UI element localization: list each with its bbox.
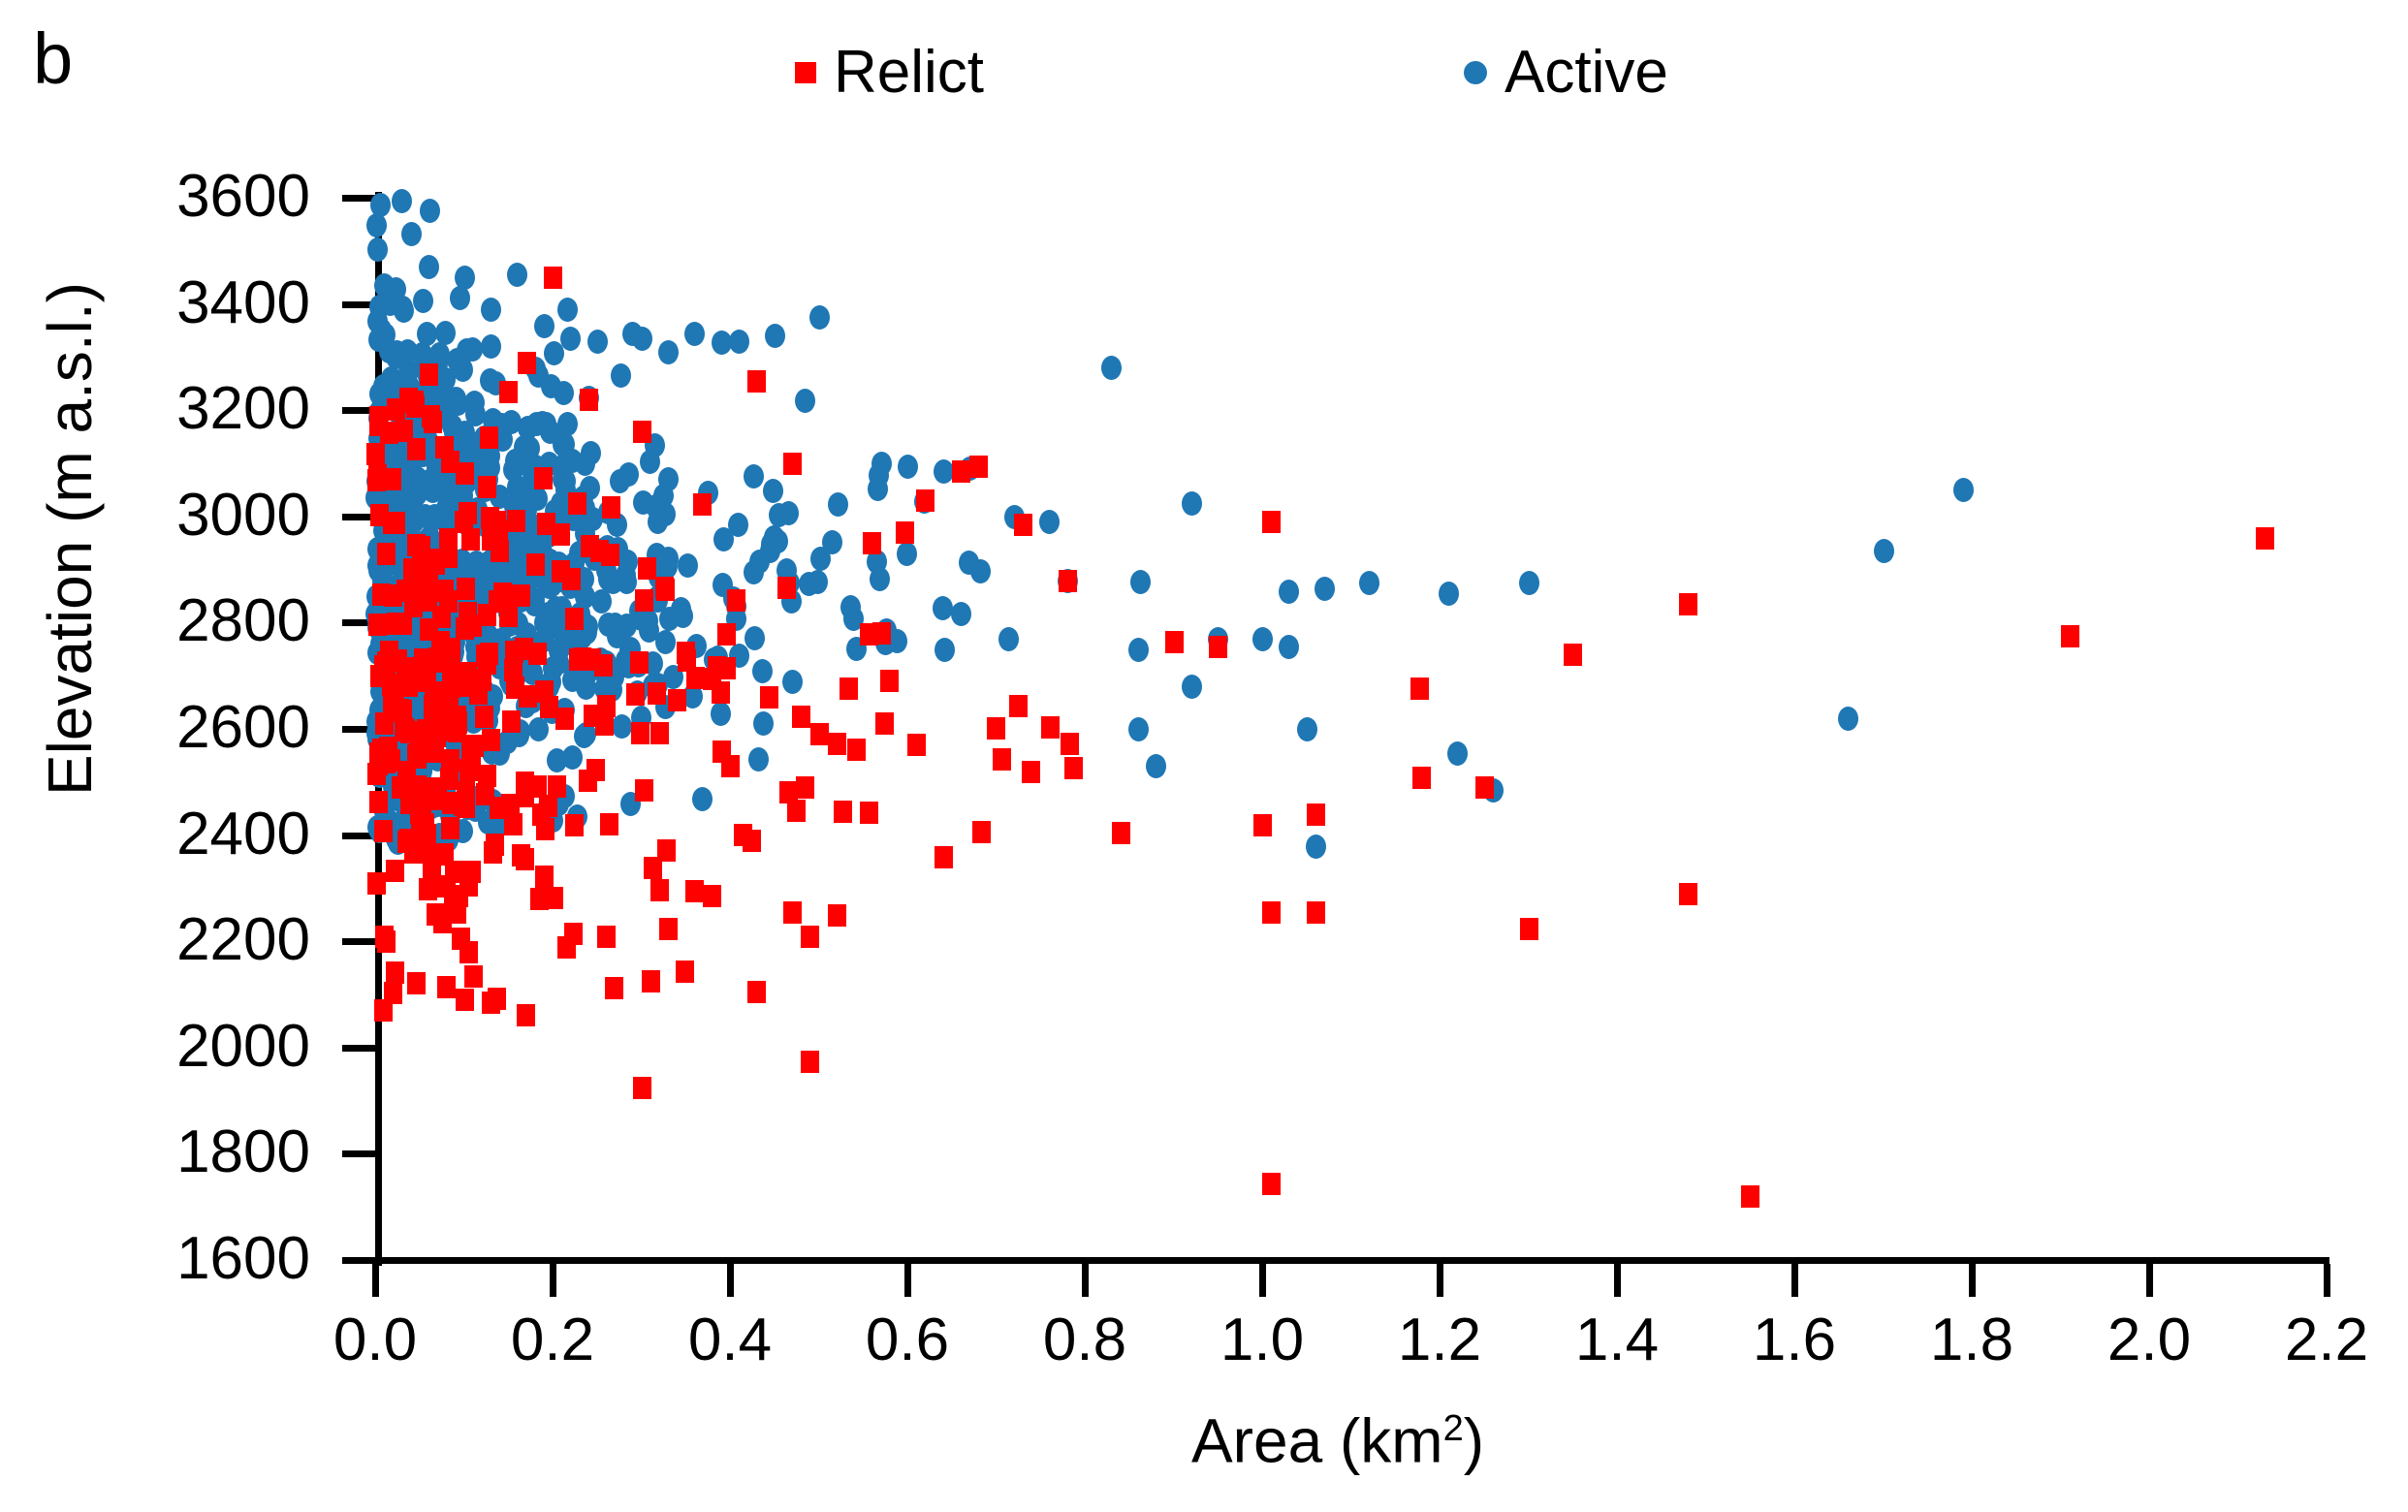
- data-point-active: [1128, 638, 1149, 662]
- data-point-active: [401, 222, 422, 246]
- data-point-active: [1146, 754, 1166, 778]
- data-point-active: [575, 452, 595, 476]
- data-point-relict: [1112, 822, 1130, 844]
- data-point-active: [611, 363, 631, 388]
- data-point-relict: [847, 739, 866, 761]
- data-point-relict: [703, 885, 721, 907]
- x-axis-title: Area (km2): [1018, 1398, 1658, 1471]
- data-point-relict: [557, 936, 576, 959]
- data-point-relict: [512, 584, 530, 607]
- data-point-relict: [916, 489, 935, 512]
- data-point-active: [1838, 707, 1858, 731]
- data-point-relict: [384, 584, 402, 607]
- data-point-active: [640, 450, 660, 474]
- data-point-active: [527, 487, 548, 511]
- data-point-relict: [368, 464, 387, 487]
- data-point-relict: [638, 557, 656, 580]
- data-point-relict: [828, 904, 846, 927]
- y-tick-label: 1800: [58, 1122, 310, 1182]
- data-point-relict: [644, 857, 662, 879]
- legend-entry-active: Active: [1464, 43, 1668, 103]
- x-tick: [1614, 1264, 1621, 1297]
- data-point-relict: [734, 824, 752, 846]
- data-point-relict: [534, 467, 553, 489]
- data-point-relict: [872, 622, 891, 645]
- data-point-active: [557, 298, 578, 322]
- data-point-active: [871, 452, 892, 476]
- data-point-active: [897, 542, 917, 566]
- data-point-relict: [594, 654, 613, 677]
- data-point-relict: [478, 652, 496, 675]
- data-point-relict: [374, 820, 393, 842]
- data-point-relict: [796, 776, 814, 799]
- data-point-relict: [535, 680, 554, 703]
- x-tick: [2324, 1264, 2330, 1297]
- data-point-active: [1953, 478, 1974, 502]
- data-point-relict: [459, 662, 477, 684]
- data-point-active: [1439, 582, 1459, 606]
- data-point-relict: [676, 961, 694, 983]
- data-point-relict: [648, 682, 666, 705]
- data-point-relict: [1262, 1173, 1281, 1195]
- data-point-relict: [633, 1077, 651, 1099]
- data-point-relict: [880, 670, 899, 692]
- data-point-relict: [407, 438, 426, 460]
- data-point-relict: [2256, 527, 2274, 550]
- data-point-relict: [1564, 644, 1582, 666]
- data-point-active: [1297, 717, 1317, 741]
- data-point-relict: [993, 748, 1011, 771]
- data-point-relict: [476, 783, 494, 805]
- x-tick-label: 2.2: [2220, 1310, 2408, 1370]
- data-point-active: [840, 595, 861, 619]
- data-point-relict: [972, 821, 991, 843]
- x-tick: [1082, 1264, 1089, 1297]
- data-point-relict: [399, 388, 418, 410]
- data-point-active: [481, 334, 501, 359]
- data-point-active: [658, 340, 679, 364]
- data-point-relict: [386, 860, 404, 882]
- data-point-relict: [403, 558, 422, 581]
- legend-label-active: Active: [1505, 43, 1668, 103]
- data-point-active: [1182, 491, 1202, 516]
- data-point-relict: [1679, 593, 1697, 615]
- data-point-relict: [568, 492, 586, 515]
- data-point-active: [1447, 741, 1468, 766]
- plot-area: [375, 198, 2327, 1260]
- data-point-active: [547, 748, 567, 772]
- data-point-active: [729, 330, 749, 354]
- data-point-relict: [1262, 901, 1281, 924]
- data-point-active: [598, 613, 618, 637]
- data-point-relict: [605, 977, 623, 999]
- data-point-active: [748, 747, 769, 772]
- data-point-relict: [987, 717, 1005, 740]
- data-point-relict: [935, 846, 953, 868]
- data-point-relict: [777, 577, 796, 599]
- data-point-relict: [552, 560, 570, 583]
- x-axis-title-main: Area (km: [1191, 1405, 1443, 1475]
- x-tick: [1259, 1264, 1266, 1297]
- data-point-relict: [457, 796, 475, 818]
- data-point-active: [1128, 717, 1149, 741]
- data-point-relict: [384, 982, 402, 1004]
- y-tick: [342, 1257, 375, 1264]
- data-point-relict: [397, 831, 416, 853]
- data-point-relict: [760, 686, 778, 709]
- data-point-active: [744, 464, 764, 488]
- data-point-active: [419, 255, 439, 279]
- y-tick-label: 2000: [58, 1017, 310, 1077]
- data-point-relict: [721, 755, 740, 777]
- data-point-active: [367, 237, 388, 262]
- data-point-relict: [420, 561, 438, 583]
- data-point-active: [868, 477, 888, 501]
- data-point-active: [809, 305, 830, 330]
- data-point-relict: [410, 802, 428, 824]
- data-point-active: [951, 602, 971, 626]
- active-circle-marker-icon: [1464, 61, 1487, 84]
- data-point-relict: [394, 613, 412, 635]
- x-tick: [1969, 1264, 1976, 1297]
- data-point-relict: [516, 772, 534, 794]
- data-point-relict: [548, 775, 566, 798]
- data-point-relict: [552, 523, 570, 546]
- data-point-active: [534, 314, 554, 338]
- data-point-active: [810, 547, 831, 571]
- x-tick: [550, 1264, 556, 1297]
- data-point-active: [678, 553, 698, 578]
- data-point-relict: [650, 879, 669, 901]
- data-point-relict: [424, 411, 442, 433]
- data-point-relict: [463, 614, 482, 637]
- data-point-active: [711, 702, 731, 726]
- data-point-relict: [457, 578, 475, 600]
- data-point-active: [959, 551, 979, 575]
- data-point-relict: [375, 712, 394, 735]
- data-point-relict: [747, 981, 766, 1003]
- data-point-active: [692, 787, 713, 811]
- data-point-relict: [896, 521, 914, 544]
- data-point-active: [828, 492, 848, 517]
- data-point-relict: [626, 683, 645, 706]
- data-point-active: [576, 676, 596, 700]
- data-point-relict: [441, 817, 459, 839]
- data-point-relict: [440, 691, 459, 713]
- data-point-relict: [369, 414, 388, 436]
- data-point-relict: [448, 720, 466, 742]
- data-point-relict: [717, 623, 736, 646]
- data-point-active: [728, 513, 748, 537]
- data-point-active: [413, 289, 433, 313]
- data-point-relict: [369, 791, 388, 813]
- data-point-relict: [480, 426, 498, 449]
- data-point-relict: [1061, 733, 1079, 755]
- data-point-relict: [367, 763, 386, 785]
- data-point-relict: [801, 1051, 819, 1073]
- data-point-relict: [501, 794, 520, 816]
- data-point-relict: [482, 992, 500, 1014]
- legend: Relict Active: [795, 43, 1861, 114]
- data-point-active: [481, 298, 501, 322]
- data-point-relict: [650, 722, 669, 744]
- data-point-active: [745, 626, 765, 650]
- data-point-relict: [783, 901, 802, 924]
- data-point-relict: [431, 719, 450, 741]
- data-point-relict: [810, 723, 829, 745]
- x-axis-title-exponent: 2: [1443, 1408, 1464, 1449]
- data-point-relict: [499, 381, 518, 403]
- data-point-relict: [642, 970, 660, 992]
- data-point-relict: [860, 802, 878, 824]
- data-point-relict: [428, 647, 447, 670]
- y-axis-title-wrap: Elevation (m a.s.l.): [31, 64, 109, 1014]
- data-point-relict: [875, 712, 894, 735]
- data-point-relict: [600, 813, 618, 835]
- x-tick: [904, 1264, 911, 1297]
- data-point-relict: [1253, 814, 1272, 836]
- data-point-relict: [456, 989, 474, 1011]
- data-point-relict: [1262, 511, 1281, 533]
- data-point-relict: [386, 961, 404, 984]
- data-point-active: [612, 714, 632, 739]
- data-point-relict: [517, 1004, 535, 1026]
- data-point-relict: [461, 742, 480, 765]
- data-point-active: [574, 724, 594, 748]
- data-point-active: [1252, 627, 1273, 651]
- data-point-relict: [565, 608, 584, 630]
- data-point-active: [560, 327, 581, 351]
- data-point-relict: [1307, 901, 1325, 924]
- data-point-relict: [792, 706, 810, 728]
- data-point-active: [658, 467, 679, 491]
- data-point-active: [417, 322, 437, 346]
- data-point-relict: [708, 656, 726, 678]
- data-point-relict: [377, 543, 396, 565]
- data-point-relict: [536, 818, 554, 840]
- data-point-relict: [727, 589, 745, 612]
- data-point-active: [587, 330, 608, 354]
- y-tick-label: 1600: [58, 1229, 310, 1289]
- data-point-active: [646, 494, 666, 519]
- data-point-active: [898, 455, 918, 479]
- relict-square-marker-icon: [795, 62, 816, 83]
- data-point-relict: [481, 507, 499, 529]
- data-point-relict: [2061, 625, 2079, 647]
- data-point-active: [778, 501, 799, 525]
- data-point-active: [507, 263, 527, 287]
- data-point-relict: [952, 460, 970, 483]
- data-point-relict: [1679, 883, 1697, 905]
- data-point-relict: [1165, 631, 1184, 653]
- data-point-active: [1306, 835, 1326, 859]
- data-point-relict: [504, 659, 523, 681]
- data-point-active: [514, 435, 534, 459]
- data-point-active: [1519, 571, 1539, 595]
- data-point-relict: [573, 647, 591, 670]
- data-point-relict: [435, 580, 454, 602]
- data-point-active: [369, 295, 390, 319]
- data-point-relict: [747, 370, 766, 393]
- data-point-relict: [659, 918, 678, 940]
- data-point-relict: [969, 456, 988, 478]
- data-point-relict: [435, 843, 454, 866]
- data-point-active: [935, 638, 955, 662]
- data-point-active: [1874, 539, 1894, 563]
- data-point-relict: [1410, 677, 1429, 700]
- data-point-relict: [518, 352, 536, 374]
- data-point-relict: [787, 800, 806, 822]
- data-point-relict: [526, 553, 545, 576]
- data-point-relict: [1741, 1185, 1759, 1208]
- data-point-relict: [1475, 776, 1494, 799]
- data-point-active: [1130, 570, 1151, 594]
- data-point-active: [393, 296, 413, 320]
- data-point-relict: [440, 768, 459, 790]
- data-point-active: [934, 459, 954, 484]
- data-point-relict: [433, 911, 452, 933]
- data-point-active: [659, 607, 680, 631]
- data-point-active: [752, 659, 773, 683]
- data-point-relict: [491, 540, 509, 562]
- data-point-relict: [515, 638, 533, 660]
- data-point-relict: [685, 880, 704, 902]
- data-point-active: [392, 189, 412, 213]
- data-point-active: [544, 341, 564, 365]
- data-point-relict: [428, 788, 447, 810]
- data-point-relict: [367, 872, 386, 895]
- data-point-relict: [420, 363, 438, 386]
- data-point-relict: [907, 734, 926, 756]
- x-axis-title-tail: ): [1464, 1405, 1484, 1475]
- scatter-plot-figure: b Relict Active 360034003200300028002600…: [0, 0, 2408, 1512]
- y-tick: [342, 938, 375, 945]
- data-point-relict: [374, 655, 393, 677]
- data-point-relict: [863, 532, 881, 554]
- y-tick: [342, 1150, 375, 1157]
- data-point-relict: [375, 926, 394, 948]
- data-point-active: [528, 717, 549, 741]
- x-tick: [1791, 1264, 1798, 1297]
- data-point-relict: [579, 770, 597, 792]
- data-point-relict: [464, 965, 483, 988]
- data-point-relict: [686, 667, 705, 689]
- data-point-relict: [455, 511, 473, 533]
- data-point-relict: [840, 677, 858, 700]
- data-point-active: [554, 381, 574, 405]
- data-point-relict: [478, 476, 496, 498]
- data-point-relict: [1064, 757, 1083, 779]
- data-point-relict: [1412, 767, 1431, 789]
- y-tick: [342, 1045, 375, 1052]
- data-point-relict: [633, 421, 651, 443]
- data-point-active: [768, 529, 788, 553]
- data-point-relict: [482, 729, 500, 751]
- data-point-active: [557, 412, 578, 436]
- data-point-relict: [366, 443, 385, 465]
- data-point-relict: [452, 928, 470, 950]
- data-point-active: [795, 389, 815, 413]
- x-tick: [372, 1264, 379, 1297]
- data-point-relict: [441, 451, 459, 473]
- data-point-relict: [475, 706, 493, 728]
- legend-entry-relict: Relict: [795, 43, 984, 103]
- data-point-active: [744, 560, 764, 584]
- data-point-relict: [519, 685, 537, 708]
- data-point-relict: [712, 681, 730, 704]
- data-point-relict: [635, 589, 653, 612]
- data-point-relict: [419, 878, 437, 900]
- data-point-relict: [530, 888, 549, 910]
- data-point-relict: [387, 512, 405, 534]
- y-axis-title: Elevation (m a.s.l.): [39, 282, 101, 796]
- data-point-relict: [783, 453, 802, 475]
- data-point-relict: [512, 844, 530, 866]
- x-tick: [727, 1264, 734, 1297]
- data-point-relict: [1009, 695, 1028, 717]
- data-point-active: [555, 469, 576, 493]
- data-point-relict: [630, 651, 649, 674]
- data-point-relict: [1059, 570, 1077, 592]
- data-point-active: [753, 711, 774, 736]
- data-point-active: [765, 324, 785, 348]
- data-point-active: [1039, 510, 1060, 534]
- data-point-relict: [370, 504, 389, 526]
- data-point-active: [1279, 580, 1299, 604]
- data-point-relict: [504, 813, 523, 835]
- data-point-relict: [602, 496, 620, 519]
- data-point-active: [455, 266, 475, 290]
- data-point-relict: [597, 695, 616, 717]
- data-point-relict: [1209, 636, 1227, 658]
- data-point-active: [420, 199, 440, 223]
- data-point-relict: [407, 972, 426, 994]
- data-point-relict: [379, 737, 397, 759]
- data-point-relict: [581, 535, 599, 557]
- data-point-relict: [828, 733, 846, 755]
- data-point-relict: [631, 722, 650, 744]
- data-point-relict: [1307, 803, 1325, 826]
- data-point-relict: [539, 795, 557, 817]
- data-point-active: [1279, 635, 1299, 659]
- data-point-relict: [801, 926, 819, 948]
- legend-label-relict: Relict: [834, 43, 984, 103]
- data-point-relict: [1520, 918, 1538, 940]
- data-point-active: [1182, 675, 1202, 699]
- data-point-relict: [502, 710, 521, 733]
- data-point-active: [782, 670, 803, 694]
- data-point-relict: [635, 779, 653, 802]
- x-tick: [2146, 1264, 2153, 1297]
- data-point-relict: [486, 834, 504, 856]
- data-point-relict: [779, 781, 798, 803]
- data-point-relict: [693, 493, 712, 516]
- data-point-relict: [677, 642, 695, 664]
- data-point-relict: [437, 976, 456, 998]
- data-point-active: [808, 570, 828, 594]
- data-point-active: [1315, 577, 1335, 601]
- data-point-active: [370, 193, 391, 217]
- data-point-active: [655, 630, 676, 654]
- data-point-active: [435, 367, 456, 392]
- data-point-relict: [834, 801, 852, 823]
- data-point-relict: [668, 689, 686, 711]
- data-point-active: [933, 596, 953, 620]
- data-point-active: [366, 213, 387, 237]
- data-point-relict: [368, 614, 387, 636]
- data-point-active: [763, 479, 783, 503]
- data-point-active: [610, 469, 630, 493]
